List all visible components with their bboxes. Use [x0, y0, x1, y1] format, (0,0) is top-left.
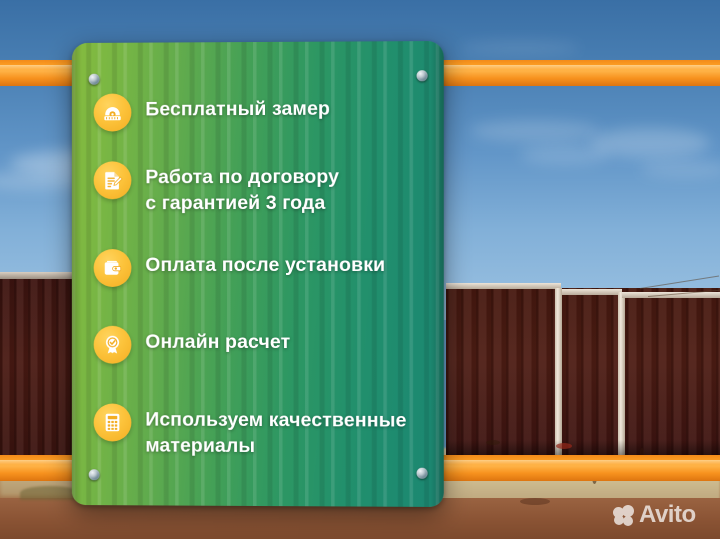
overhead-wire [640, 275, 719, 289]
feature-item-online-calculation[interactable]: Онлайн расчет [94, 325, 291, 364]
bolt-bottom-right [417, 468, 428, 479]
feature-label: Оплата после установки [145, 248, 385, 278]
screenshot-canvas: Бесплатный замер [0, 0, 720, 539]
fence-post [555, 288, 562, 463]
green-sign-board[interactable]: Бесплатный замер [72, 41, 444, 507]
feature-item-contract-warranty[interactable]: Работа по договору с гарантией 3 года [94, 160, 339, 216]
feature-item-free-measurement[interactable]: Бесплатный замер [94, 92, 330, 132]
bolt-top-left [89, 74, 100, 85]
cloud [460, 40, 580, 56]
feature-label: Работа по договору с гарантией 3 года [145, 160, 339, 216]
ground-debris [520, 498, 550, 505]
cloud [520, 145, 610, 165]
bolt-bottom-left [89, 469, 100, 480]
calculator-icon [94, 404, 132, 442]
feature-item-quality-materials[interactable]: Используем качественные материалы [94, 403, 407, 460]
ground-debris [486, 440, 500, 445]
fence-cap [446, 283, 561, 289]
fence-cap [622, 292, 720, 298]
fence-post [618, 292, 625, 464]
ground-debris [556, 443, 572, 449]
cloud [640, 160, 720, 178]
avito-watermark: Avito [613, 503, 696, 527]
wallet-icon [94, 249, 132, 287]
feature-label: Используем качественные материалы [145, 403, 406, 460]
avito-logo-icon [613, 505, 634, 526]
award-badge-icon [94, 326, 132, 364]
feature-item-payment-after-install[interactable]: Оплата после установки [94, 248, 386, 287]
feature-label: Онлайн расчет [145, 325, 290, 355]
avito-wordmark: Avito [639, 503, 696, 527]
cloud [470, 120, 600, 142]
contract-document-icon [94, 161, 132, 199]
feature-list: Бесплатный замер [72, 41, 444, 507]
measuring-tape-icon [94, 94, 132, 132]
fence-cap [560, 289, 622, 295]
feature-label: Бесплатный замер [145, 92, 330, 123]
bolt-top-right [417, 70, 428, 81]
